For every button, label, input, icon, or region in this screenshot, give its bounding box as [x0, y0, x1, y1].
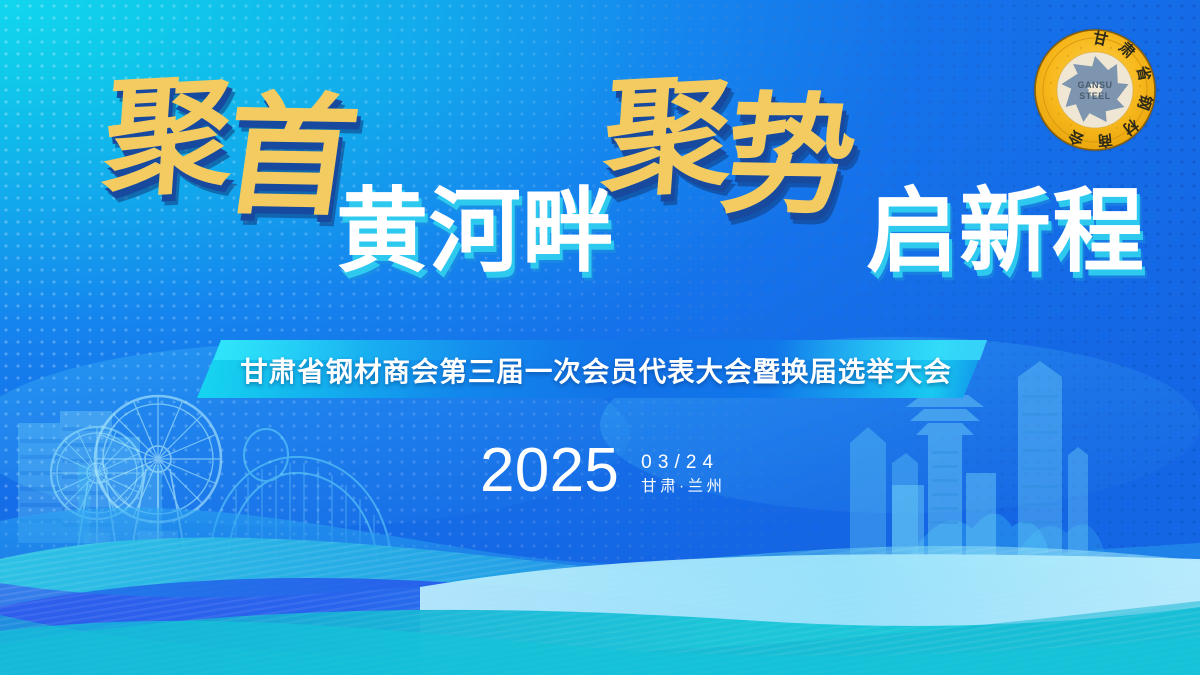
event-location: 甘肃·兰州	[641, 475, 725, 498]
event-date-details: 03/24 甘肃·兰州	[641, 442, 725, 498]
headline-left-gold-char-2: 首	[217, 96, 359, 218]
headline-left-gold-char-1: 聚	[99, 59, 233, 215]
headline-block: 聚首 黄河畔 聚势 启新程	[0, 58, 1200, 323]
event-date-block: 2025 03/24 甘肃·兰州	[480, 442, 725, 501]
gansu-steel-chamber-logo: 甘肃省钢材商会 GANSU STEEL	[1031, 26, 1159, 154]
headline-left-white: 黄河畔	[336, 185, 615, 277]
logo-inner-text-steel: STEEL	[1079, 91, 1111, 101]
headline-left-gold: 聚首	[100, 70, 355, 200]
logo-inner-text-gansu: GANSU	[1077, 80, 1112, 90]
event-year: 2025	[480, 442, 619, 501]
headline-right-gold-char-1: 聚	[598, 59, 732, 215]
headline-right-white: 启新程	[866, 185, 1145, 277]
subtitle-banner-text: 甘肃省钢材商会第三届一次会员代表大会暨换届选举大会	[197, 340, 991, 398]
headline-right-gold: 聚势	[599, 70, 854, 200]
headline-right-gold-char-2: 势	[716, 96, 858, 218]
poster-canvas: 聚首 黄河畔 聚势 启新程 甘肃省钢材商会第三届一次会员代表大会暨换届选举大会 …	[0, 0, 1200, 675]
event-month-day: 03/24	[641, 451, 725, 475]
